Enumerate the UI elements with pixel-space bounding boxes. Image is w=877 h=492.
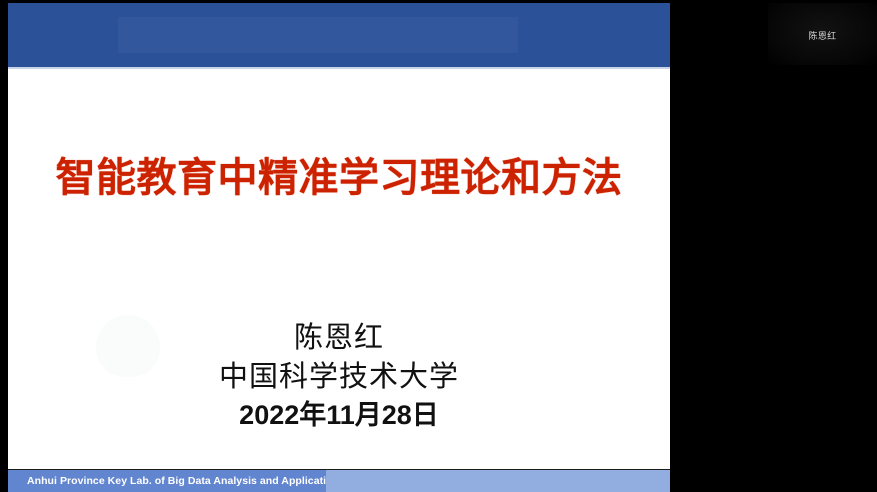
byline-speaker-name: 陈恩红 <box>8 321 670 355</box>
banner-bottom-edge <box>8 67 670 69</box>
presentation-slide[interactable]: 智能教育中精准学习理论和方法 陈恩红 中国科学技术大学 2022年11月28日 … <box>8 3 670 492</box>
slide-top-banner <box>8 3 670 67</box>
participant-video-thumbnail[interactable]: 陈恩红 <box>768 3 877 65</box>
screen-share-canvas: 智能教育中精准学习理论和方法 陈恩红 中国科学技术大学 2022年11月28日 … <box>0 0 877 492</box>
footer-lab-label: Anhui Province Key Lab. of Big Data Anal… <box>8 470 326 492</box>
slide-title: 智能教育中精准学习理论和方法 <box>8 155 670 201</box>
byline-affiliation: 中国科学技术大学 <box>8 360 670 394</box>
byline-date: 2022年11月28日 <box>8 400 670 432</box>
participant-name-label: 陈恩红 <box>768 29 877 42</box>
footer-fill-bar <box>326 470 670 492</box>
slide-byline-block: 陈恩红 中国科学技术大学 2022年11月28日 <box>8 321 670 432</box>
banner-sheen-overlay <box>118 17 518 53</box>
slide-footer-bar: Anhui Province Key Lab. of Big Data Anal… <box>8 469 670 492</box>
